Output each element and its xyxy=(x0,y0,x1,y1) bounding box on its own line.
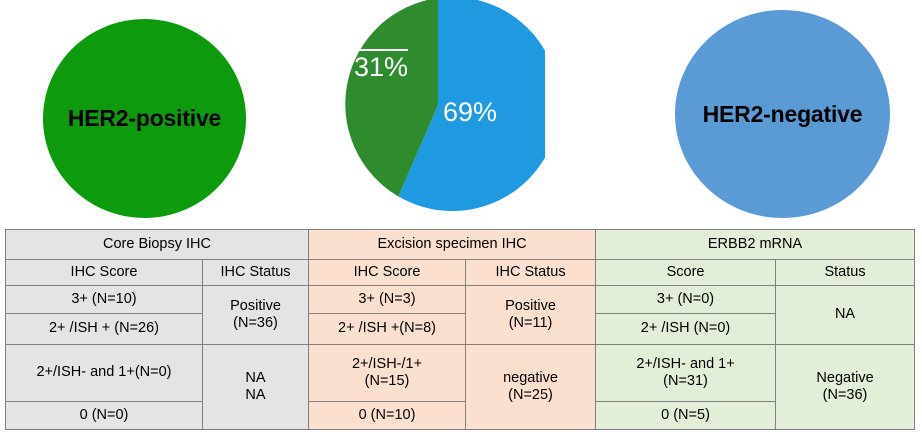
erbb2-status-negative: Negative (N=36) xyxy=(776,345,915,430)
subheader-erbb2-score: Score xyxy=(596,260,776,286)
subheader-core-ihc-score: IHC Score xyxy=(6,260,203,286)
excision-score-2plus-ish-positive: 2+ /ISH +(N=8) xyxy=(309,314,466,345)
core-score-2plus-ish-positive: 2+ /ISH + (N=26) xyxy=(6,314,203,345)
core-score-2plus-ish-negative-and-1plus: 2+/ISH- and 1+(N=0) xyxy=(6,345,203,402)
subheader-erbb2-status: Status xyxy=(776,260,915,286)
her2-results-table: Core Biopsy IHC Excision specimen IHC ER… xyxy=(5,229,915,430)
core-score-3plus: 3+ (N=10) xyxy=(6,286,203,314)
excision-score-2plus-ish-negative-1plus: 2+/ISH-/1+ (N=15) xyxy=(309,345,466,402)
core-score-0: 0 (N=0) xyxy=(6,402,203,430)
table-row: 3+ (N=10) Positive (N=36) 3+ (N=3) Posit… xyxy=(6,286,915,314)
table-group-header-row: Core Biopsy IHC Excision specimen IHC ER… xyxy=(6,230,915,260)
excision-status-positive: Positive (N=11) xyxy=(466,286,596,345)
erbb2-score-2plus-ish: 2+ /ISH (N=0) xyxy=(596,314,776,345)
her2-pie-chart: 31% 69% xyxy=(331,0,545,212)
group-header-erbb2-mrna: ERBB2 mRNA xyxy=(596,230,915,260)
subheader-excision-ihc-status: IHC Status xyxy=(466,260,596,286)
erbb2-status-na: NA xyxy=(776,286,915,345)
her2-status-figure: HER2-positive 31% 69% HER2-negative Core… xyxy=(0,0,922,444)
group-header-excision-specimen: Excision specimen IHC xyxy=(309,230,596,260)
excision-status-negative: negative (N=25) xyxy=(466,345,596,430)
erbb2-score-2plus-ish-negative-and-1plus: 2+/ISH- and 1+ (N=31) xyxy=(596,345,776,402)
excision-score-3plus: 3+ (N=3) xyxy=(309,286,466,314)
core-status-na: NA NA xyxy=(203,345,309,430)
excision-score-0: 0 (N=10) xyxy=(309,402,466,430)
erbb2-score-0: 0 (N=5) xyxy=(596,402,776,430)
her2-negative-circle: HER2-negative xyxy=(675,10,890,218)
subheader-core-ihc-status: IHC Status xyxy=(203,260,309,286)
pie-label-positive-percent: 31% xyxy=(354,52,408,83)
her2-positive-circle: HER2-positive xyxy=(43,19,246,218)
core-status-positive: Positive (N=36) xyxy=(203,286,309,345)
group-header-core-biopsy: Core Biopsy IHC xyxy=(6,230,309,260)
table-subheader-row: IHC Score IHC Status IHC Score IHC Statu… xyxy=(6,260,915,286)
table-row: 2+/ISH- and 1+(N=0) NA NA 2+/ISH-/1+ (N=… xyxy=(6,345,915,402)
her2-positive-label: HER2-positive xyxy=(68,105,221,132)
erbb2-score-3plus: 3+ (N=0) xyxy=(596,286,776,314)
subheader-excision-ihc-score: IHC Score xyxy=(309,260,466,286)
pie-label-positive-text: 31% xyxy=(354,49,408,82)
pie-label-negative-percent: 69% xyxy=(443,97,497,128)
her2-negative-label: HER2-negative xyxy=(703,101,863,128)
